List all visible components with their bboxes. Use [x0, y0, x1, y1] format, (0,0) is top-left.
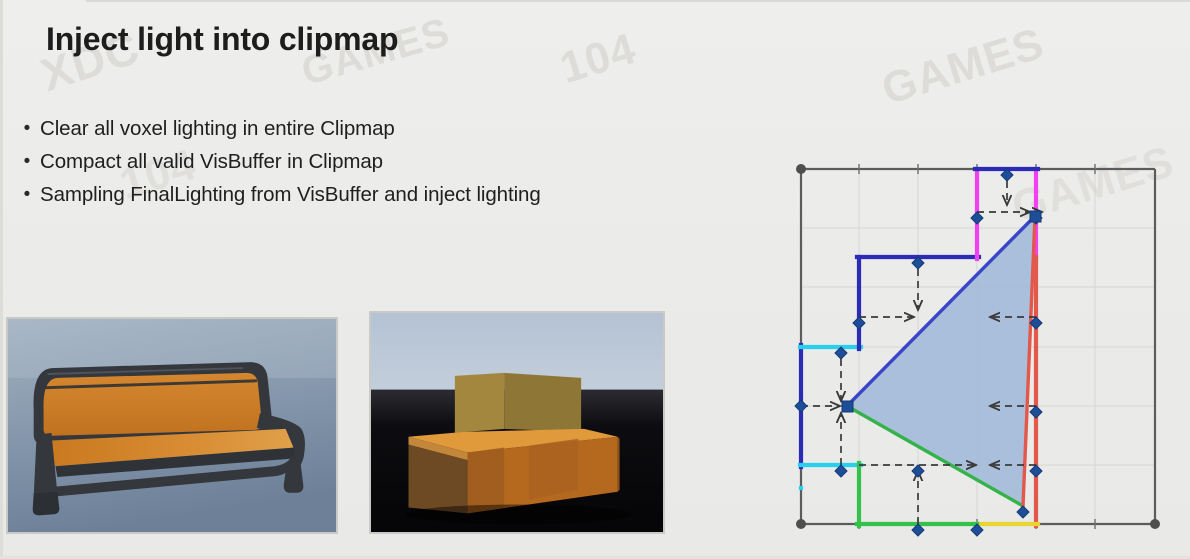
bullet-label: Clear all voxel lighting in entire Clipm…: [40, 116, 395, 142]
bench-voxel-illustration: [371, 313, 663, 532]
triangle-fill: [847, 216, 1035, 506]
bullet-marker-icon: •: [14, 116, 40, 142]
clipmap-diagram-svg: [780, 145, 1180, 545]
bullet-marker-icon: •: [14, 149, 40, 175]
slide-title: Inject light into clipmap: [46, 21, 398, 58]
node: [912, 465, 924, 477]
corner-node: [796, 164, 806, 174]
bullet-marker-icon: •: [14, 182, 40, 208]
node: [1017, 506, 1029, 518]
bullet-item: • Clear all voxel lighting in entire Cli…: [14, 116, 754, 142]
node-vertex: [1030, 211, 1041, 222]
figure-bench-voxel: [369, 311, 665, 534]
bullet-label: Compact all valid VisBuffer in Clipmap: [40, 149, 383, 175]
watermark-text: 104: [554, 24, 642, 94]
clipmap-diagram: [780, 145, 1180, 545]
watermark-text: GAMES: [876, 19, 1050, 115]
bench-rendered-illustration: [8, 319, 336, 532]
figure-bench-rendered: [6, 317, 338, 534]
node-vertex: [842, 401, 853, 412]
bullet-list: • Clear all voxel lighting in entire Cli…: [14, 116, 754, 215]
slide-root: XDC GAMES 104 GAMES 104 GAMES Inject lig…: [0, 0, 1190, 559]
node: [971, 212, 983, 224]
bullet-item: • Compact all valid VisBuffer in Clipmap: [14, 149, 754, 175]
corner-node: [796, 519, 806, 529]
node: [853, 317, 865, 329]
slide-left-edge: [0, 0, 3, 559]
node: [795, 400, 807, 412]
corner-node: [1150, 519, 1160, 529]
node: [1030, 406, 1042, 418]
slide-top-edge: [86, 0, 1190, 2]
bullet-label: Sampling FinalLighting from VisBuffer an…: [40, 182, 541, 208]
bullet-item: • Sampling FinalLighting from VisBuffer …: [14, 182, 754, 208]
node: [1030, 465, 1042, 477]
